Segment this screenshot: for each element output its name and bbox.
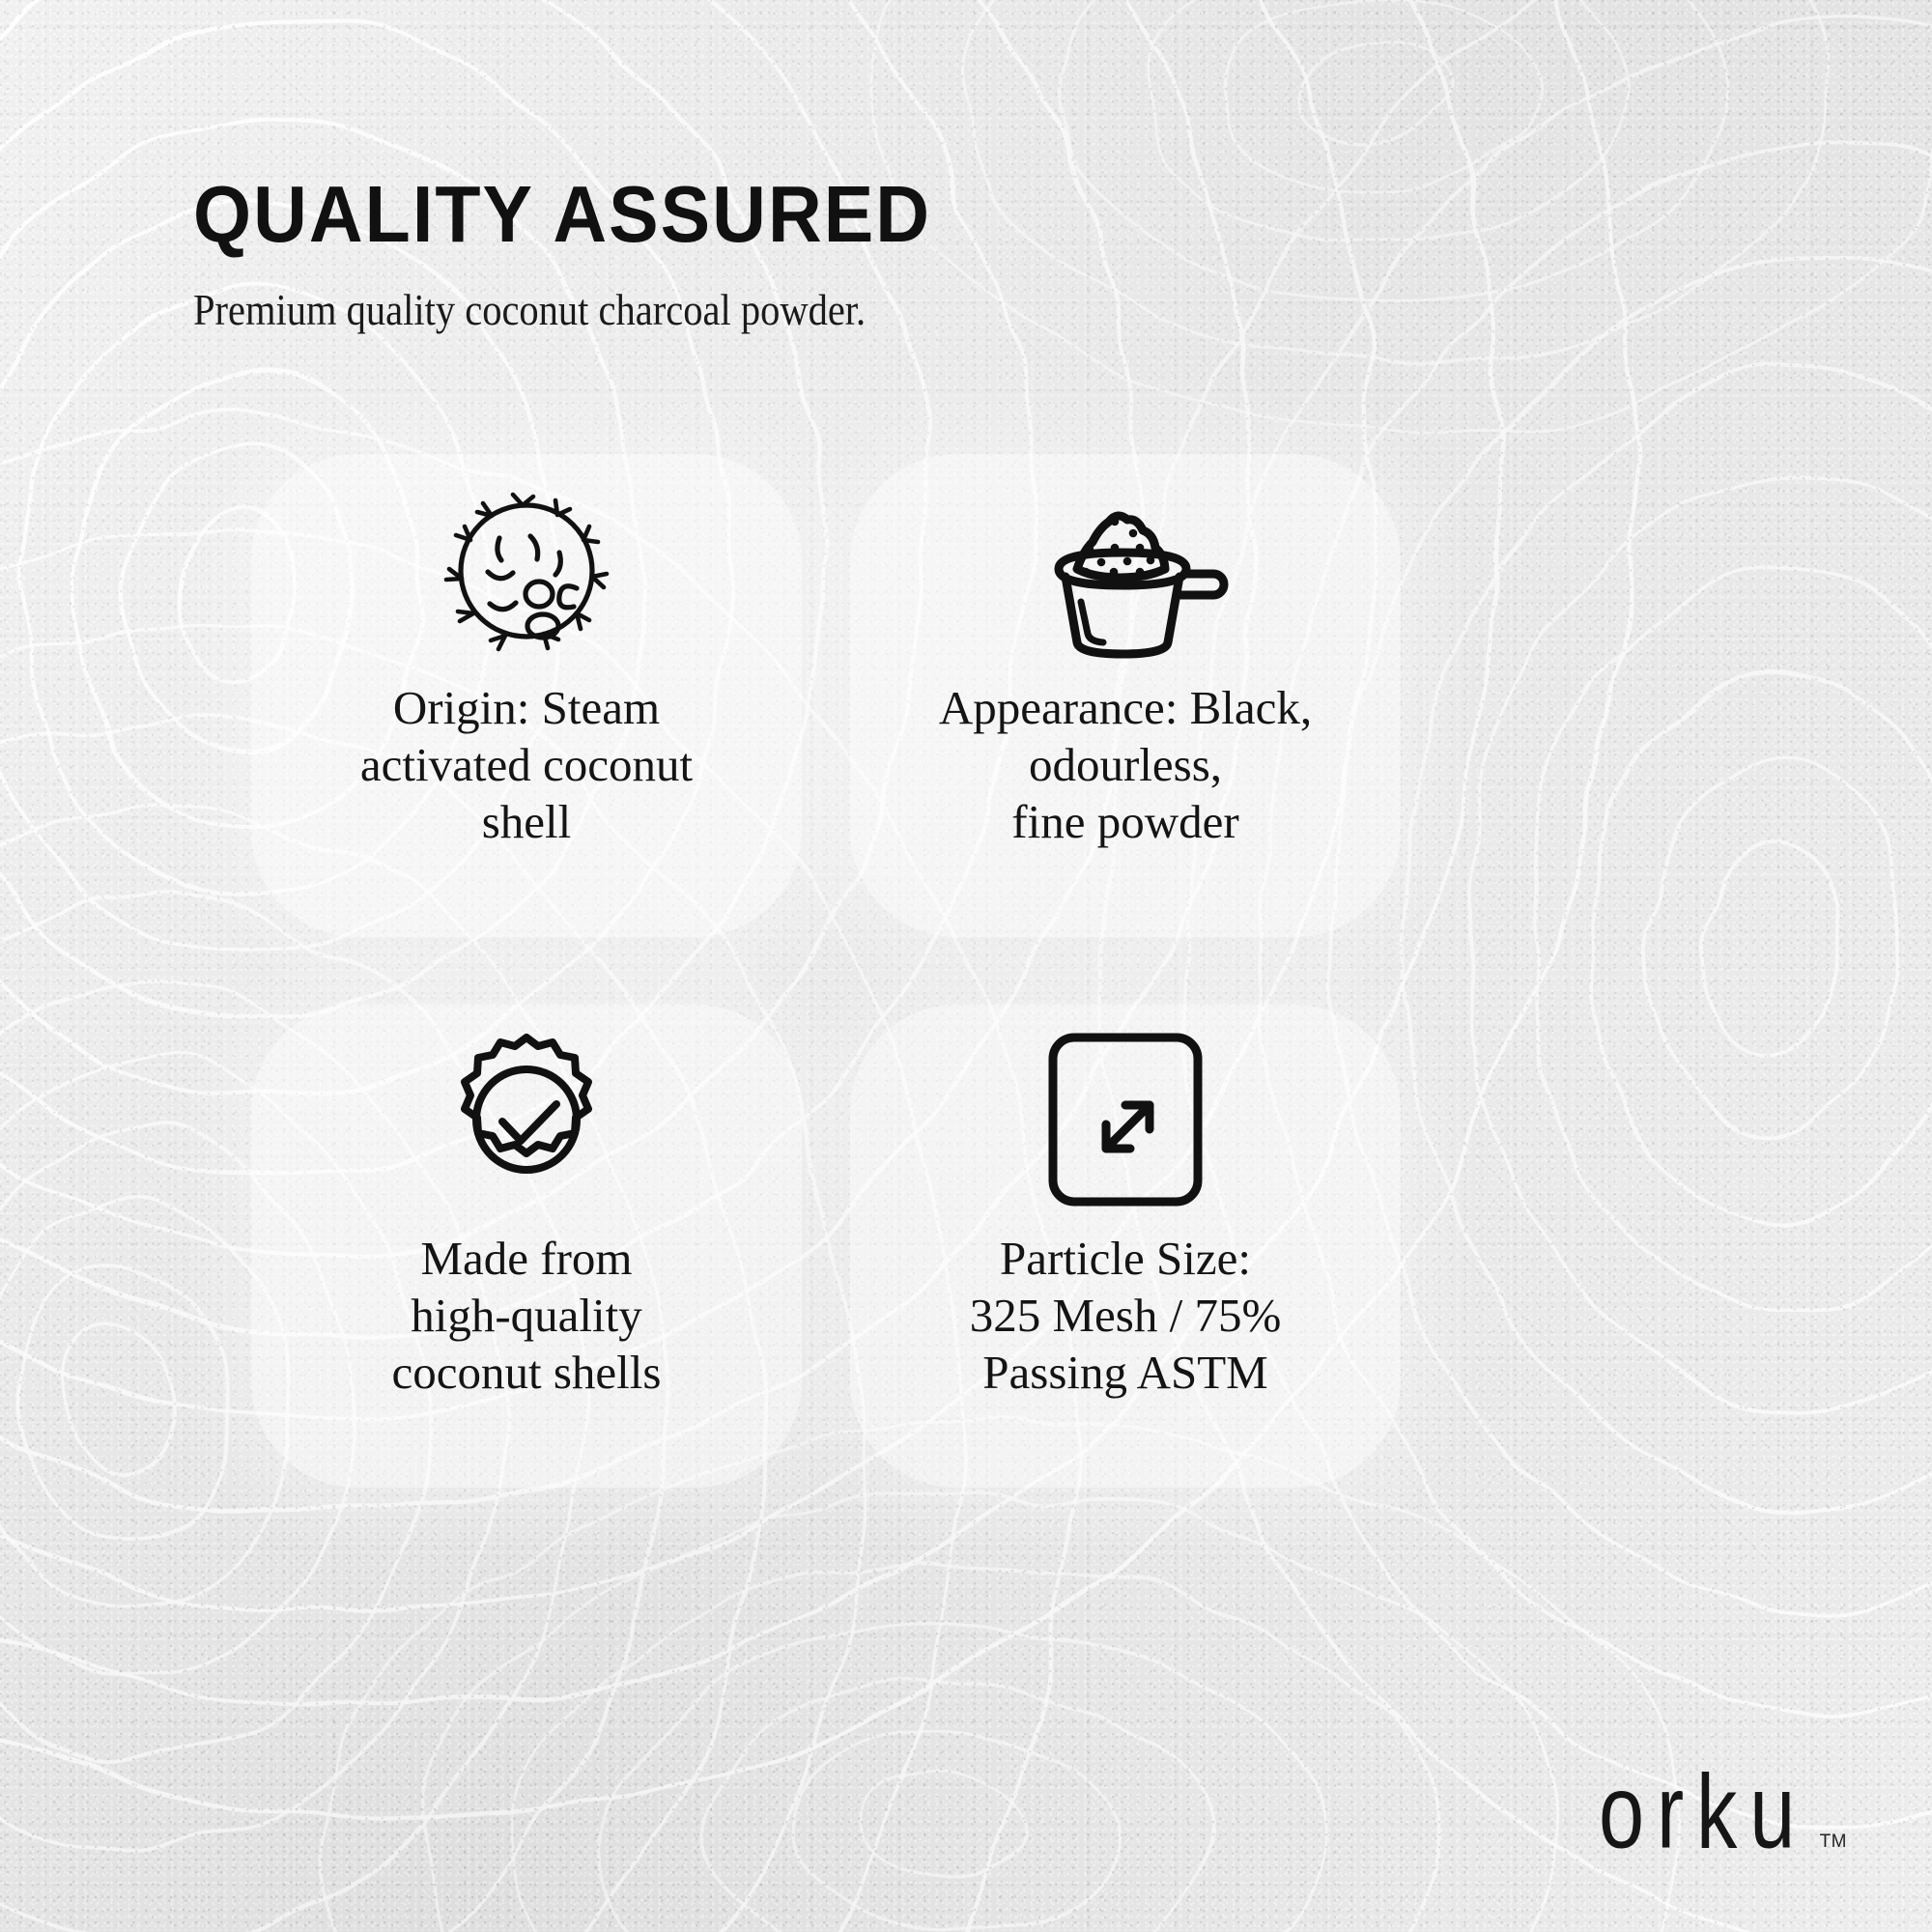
card-line: 325 Mesh / 75% xyxy=(874,1288,1377,1345)
card-line: Passing ASTM xyxy=(874,1345,1377,1402)
card-line: activated coconut xyxy=(275,737,778,794)
coconut-icon xyxy=(251,458,802,680)
feature-card-origin-text: Origin: Steam activated coconut shell xyxy=(275,680,778,850)
feature-card-particle-size: Particle Size: 325 Mesh / 75% Passing AS… xyxy=(850,1005,1401,1488)
trademark-symbol: TM xyxy=(1820,1832,1847,1853)
feature-card-origin: Origin: Steam activated coconut shell xyxy=(251,454,802,937)
card-line: fine powder xyxy=(874,794,1377,851)
page-subtitle: Premium quality coconut charcoal powder. xyxy=(193,289,1410,332)
brand-name: orku xyxy=(1599,1759,1807,1864)
card-line: high-quality xyxy=(275,1288,778,1345)
card-line: Particle Size: xyxy=(874,1231,1377,1288)
verified-badge-check-icon xyxy=(251,1009,802,1231)
card-line: coconut shells xyxy=(275,1345,778,1402)
feature-card-made-from: Made from high-quality coconut shells xyxy=(251,1005,802,1488)
header: QUALITY ASSURED Premium quality coconut … xyxy=(193,174,1546,332)
card-line: odourless, xyxy=(874,737,1377,794)
feature-card-grid: Origin: Steam activated coconut shell xyxy=(232,454,1710,1594)
card-line: shell xyxy=(275,794,778,851)
brand-logo: orku TM xyxy=(1599,1776,1847,1864)
feature-card-particle-size-text: Particle Size: 325 Mesh / 75% Passing AS… xyxy=(874,1231,1377,1401)
feature-card-appearance: Appearance: Black, odourless, fine powde… xyxy=(850,454,1401,937)
measuring-scoop-powder-icon xyxy=(850,458,1401,680)
card-line: Appearance: Black, xyxy=(874,680,1377,737)
card-line: Origin: Steam xyxy=(275,680,778,737)
card-line: Made from xyxy=(275,1231,778,1288)
feature-card-appearance-text: Appearance: Black, odourless, fine powde… xyxy=(874,680,1377,850)
page-title: QUALITY ASSURED xyxy=(193,174,1451,254)
feature-card-made-from-text: Made from high-quality coconut shells xyxy=(275,1231,778,1401)
resize-particle-size-icon xyxy=(850,1009,1401,1231)
